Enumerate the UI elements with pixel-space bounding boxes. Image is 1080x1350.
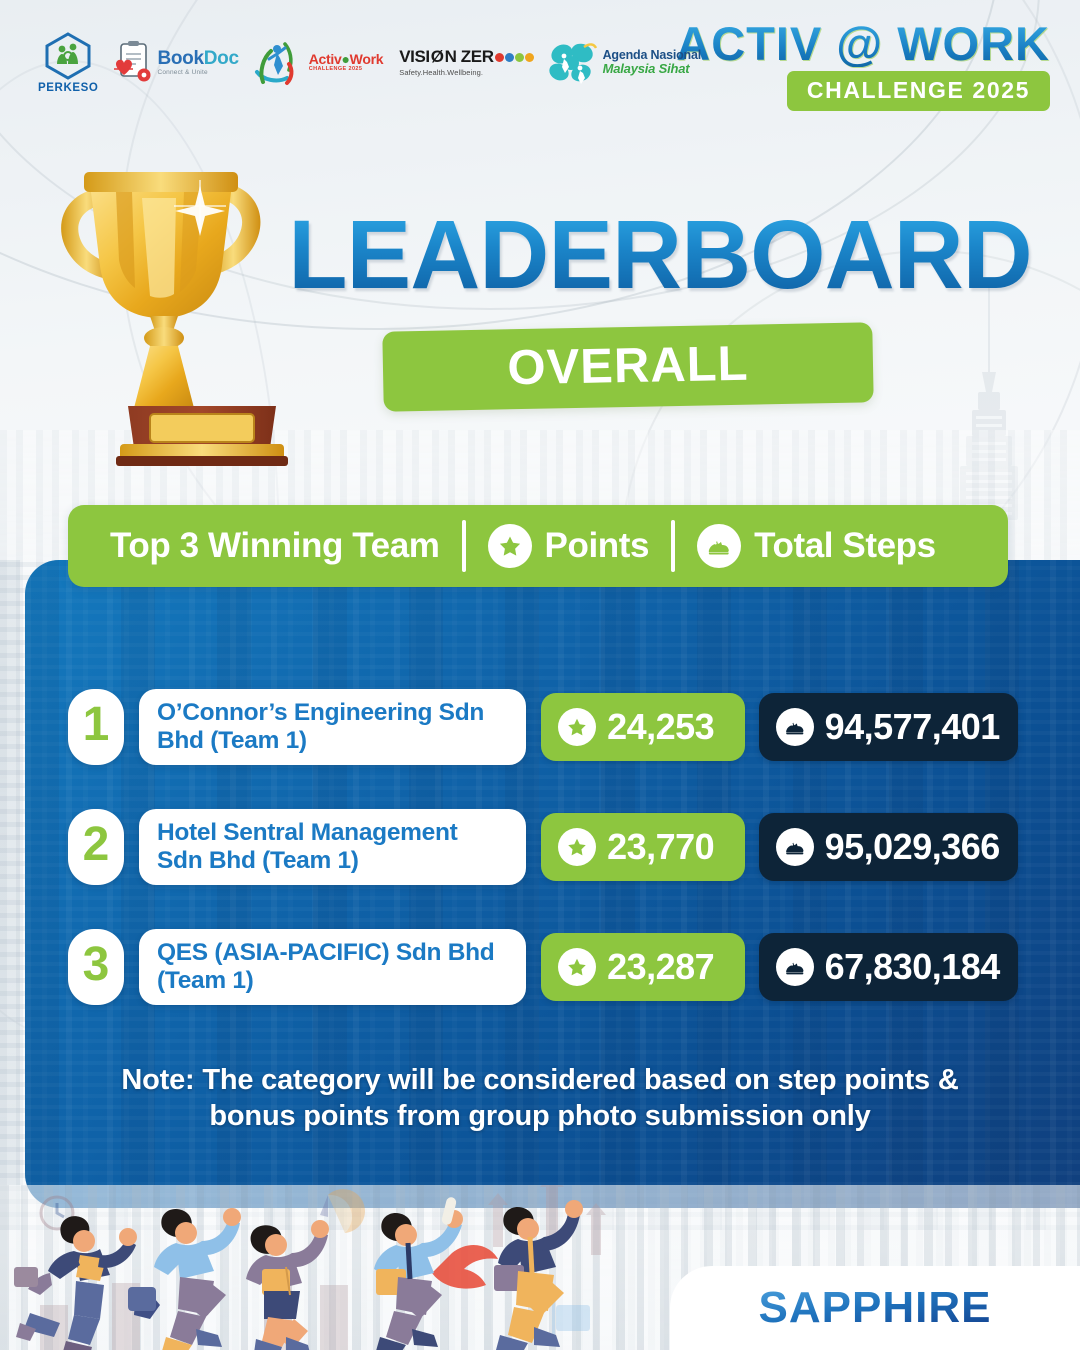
sneaker-icon <box>697 524 741 568</box>
team-name-card: O’Connor’s Engineering Sdn Bhd (Team 1) <box>139 689 526 765</box>
points-value: 23,770 <box>607 826 714 868</box>
column-steps-label: Total Steps <box>754 526 936 566</box>
column-header-team: Top 3 Winning Team <box>110 526 440 566</box>
table-row: 2 Hotel Sentral Management Sdn Bhd (Team… <box>68 808 1018 886</box>
steps-badge: 95,029,366 <box>759 813 1018 881</box>
team-name: Hotel Sentral Management Sdn Bhd (Team 1… <box>157 819 508 874</box>
rank-value: 2 <box>83 821 110 869</box>
perkeso-logo-icon <box>41 32 95 80</box>
partner-tagline: Safety.Health.Wellbeing. <box>399 69 533 77</box>
page-title: LEADERBOARD <box>265 206 1055 303</box>
rank-badge: 2 <box>68 809 124 885</box>
team-name: O’Connor’s Engineering Sdn Bhd (Team 1) <box>157 699 508 754</box>
bookdoc-logo-icon <box>112 40 154 86</box>
column-team-label: Top 3 Winning Team <box>110 526 440 566</box>
column-header-points: Points <box>488 524 650 568</box>
category-pill: OVERALL <box>382 322 873 411</box>
column-header-bar: Top 3 Winning Team Points Total Steps <box>68 505 1008 587</box>
note-text: Note: The category will be considered ba… <box>80 1062 1000 1135</box>
team-name: QES (ASIA-PACIFIC) Sdn Bhd (Team 1) <box>157 939 508 994</box>
partner-logo-strip: PERKESO BookDoc Connect & Unite <box>0 0 1080 125</box>
partner-tagline: Malaysia Sihat <box>603 62 701 76</box>
category-label: OVERALL <box>507 336 749 397</box>
column-divider <box>462 520 466 572</box>
star-icon <box>488 524 532 568</box>
partner-tagline: Connect & Unite <box>157 70 238 77</box>
agenda-nasional-logo-icon <box>548 40 600 86</box>
column-points-label: Points <box>545 526 650 566</box>
partner-label: BookDoc <box>157 49 238 68</box>
points-value: 24,253 <box>607 706 714 748</box>
tier-label: SAPPHIRE <box>759 1283 992 1333</box>
partner-label: PERKESO <box>38 82 98 94</box>
tier-badge: SAPPHIRE <box>670 1266 1080 1350</box>
partner-logo-agenda-nasional: Agenda Nasional Malaysia Sihat <box>548 40 701 86</box>
partner-logo-bookdoc: BookDoc Connect & Unite <box>112 40 238 86</box>
steps-value: 67,830,184 <box>825 946 1000 988</box>
sneaker-icon <box>776 708 814 746</box>
running-office-workers-illustration <box>0 1185 680 1350</box>
gold-trophy-icon <box>32 140 294 470</box>
sneaker-icon <box>776 828 814 866</box>
star-icon <box>558 708 596 746</box>
partner-logo-vision-zero: VISI Ø N ZER Safety.Health.Wellbeing. <box>397 48 533 77</box>
partner-logo-perkeso: PERKESO <box>38 32 98 94</box>
rank-badge: 1 <box>68 689 124 765</box>
rank-badge: 3 <box>68 929 124 1005</box>
steps-badge: 67,830,184 <box>759 933 1018 1001</box>
partner-label: Activ●Work <box>309 52 383 66</box>
activ-at-work-logo-icon <box>253 38 309 88</box>
rank-value: 1 <box>83 701 110 749</box>
team-name-card: QES (ASIA-PACIFIC) Sdn Bhd (Team 1) <box>139 929 526 1005</box>
points-value: 23,287 <box>607 946 714 988</box>
steps-value: 94,577,401 <box>825 706 1000 748</box>
table-row: 1 O’Connor’s Engineering Sdn Bhd (Team 1… <box>68 688 1018 766</box>
steps-value: 95,029,366 <box>825 826 1000 868</box>
rank-value: 3 <box>83 941 110 989</box>
star-icon <box>558 828 596 866</box>
points-badge: 23,770 <box>541 813 745 881</box>
column-header-steps: Total Steps <box>697 524 936 568</box>
table-row: 3 QES (ASIA-PACIFIC) Sdn Bhd (Team 1) 23… <box>68 928 1018 1006</box>
team-name-card: Hotel Sentral Management Sdn Bhd (Team 1… <box>139 809 526 885</box>
sneaker-icon <box>776 948 814 986</box>
column-divider <box>671 520 675 572</box>
points-badge: 24,253 <box>541 693 745 761</box>
partner-logo-activ-at-work: Activ●Work CHALLENGE 2025 <box>253 38 383 88</box>
partner-tagline: CHALLENGE 2025 <box>309 67 383 73</box>
steps-badge: 94,577,401 <box>759 693 1018 761</box>
star-icon <box>558 948 596 986</box>
points-badge: 23,287 <box>541 933 745 1001</box>
partner-label: VISI Ø N ZER <box>399 48 533 66</box>
